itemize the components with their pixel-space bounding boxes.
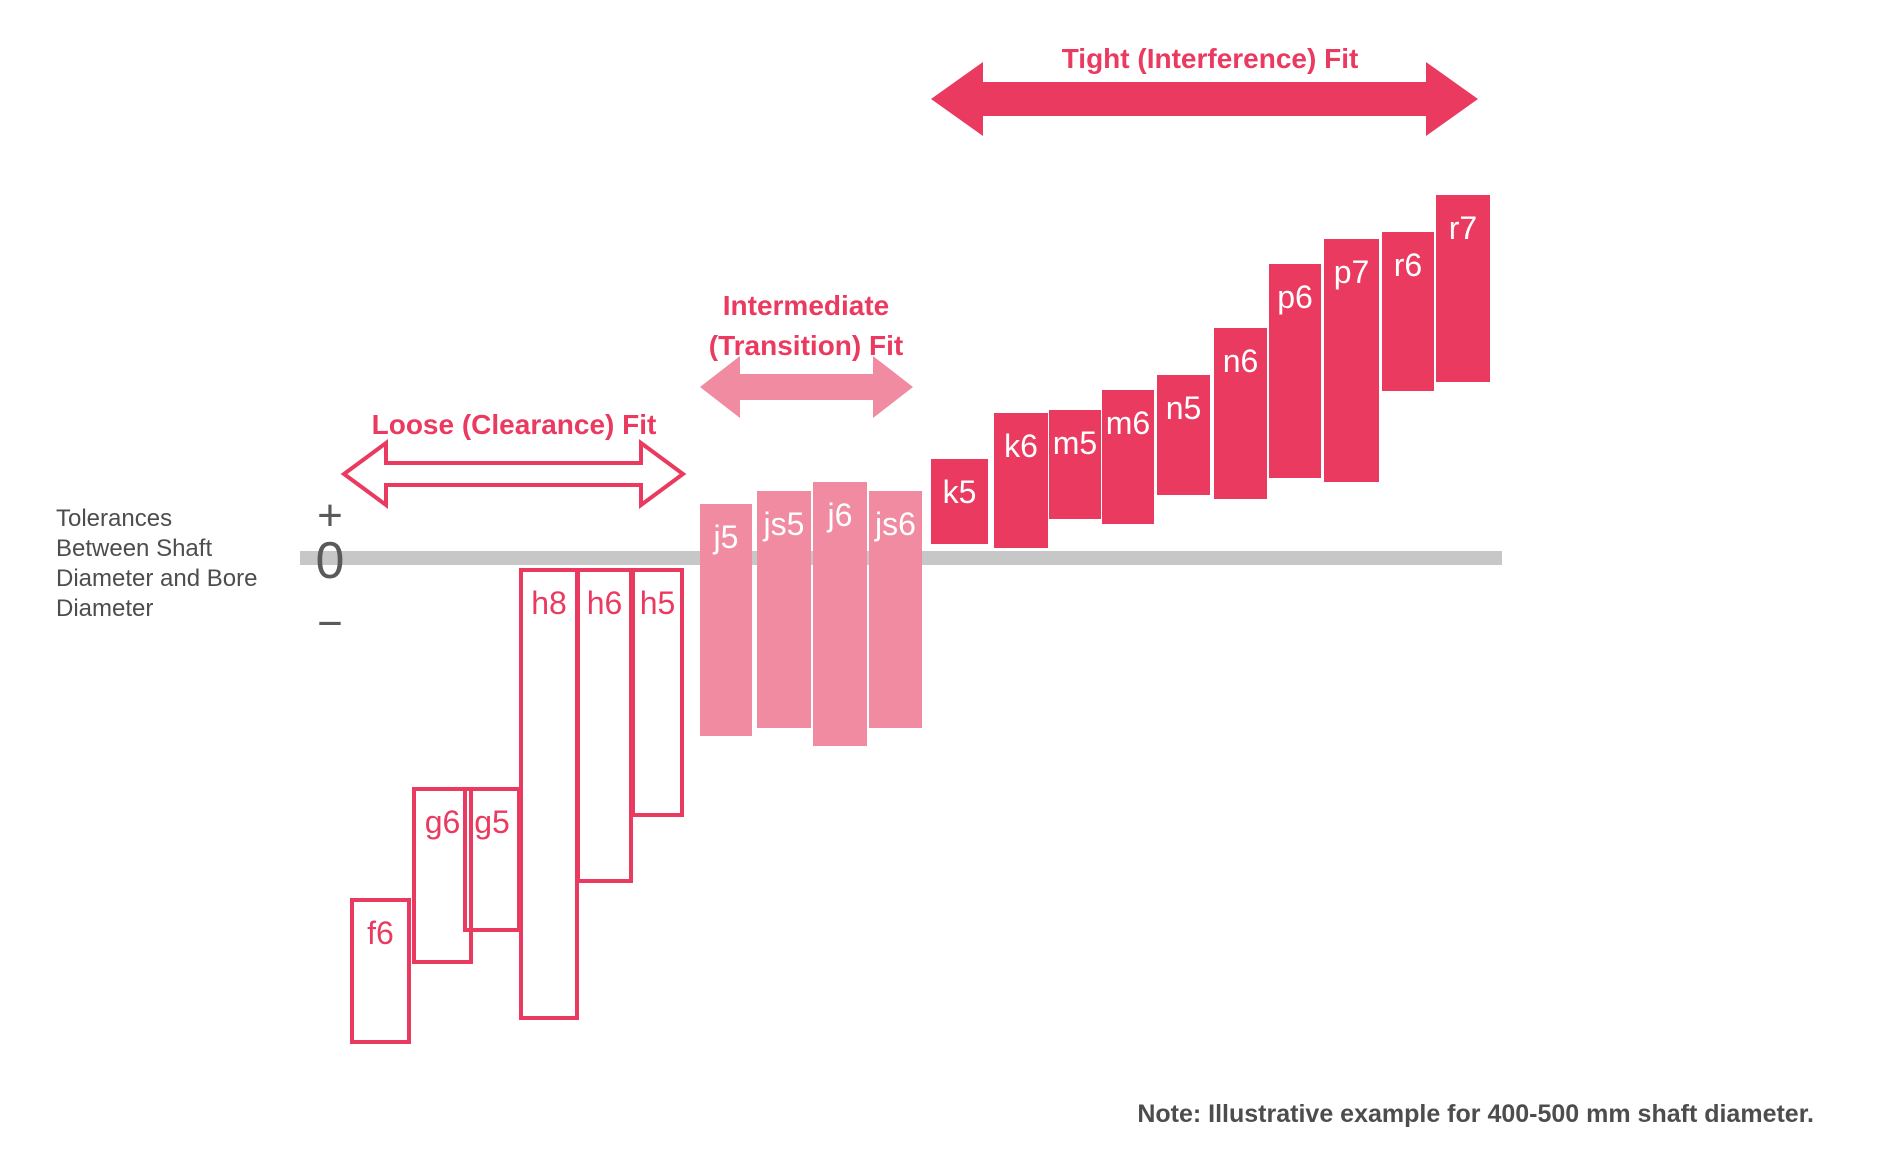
bar-j5: j5 (700, 504, 752, 736)
annotation-label-intermediate: (Transition) Fit (709, 330, 903, 361)
axis-labels-group: + 0 − (316, 491, 345, 648)
bar-n6: n6 (1214, 328, 1267, 499)
bar-label-j5: j5 (713, 519, 739, 555)
annotation-tight: Tight (Interference) Fit (931, 43, 1478, 136)
bar-js6: js6 (869, 491, 922, 728)
bar-label-p7: p7 (1334, 254, 1370, 290)
axis-minus-label: − (317, 599, 343, 648)
chart-note: Note: Illustrative example for 400-500 m… (1137, 1100, 1814, 1128)
bar-label-h5: h5 (640, 585, 676, 621)
bar-h5: h5 (633, 570, 682, 815)
bar-r7: r7 (1436, 195, 1490, 382)
bar-rect-h8 (521, 570, 577, 1018)
bar-label-j6: j6 (827, 497, 853, 533)
bar-label-n6: n6 (1223, 343, 1259, 379)
bar-f6: f6 (352, 900, 409, 1042)
y-axis-caption: TolerancesBetween ShaftDiameter and Bore… (56, 505, 257, 622)
bar-p7: p7 (1324, 239, 1379, 482)
y-axis-caption-line: Between Shaft (56, 535, 212, 562)
bar-r6: r6 (1382, 232, 1434, 391)
arrow-loose (344, 443, 683, 505)
bar-k5: k5 (931, 459, 988, 544)
bar-label-m6: m6 (1106, 405, 1150, 441)
bar-label-r7: r7 (1449, 210, 1477, 246)
bar-h8: h8 (521, 570, 577, 1018)
bar-label-js6: js6 (874, 506, 916, 542)
annotation-loose: Loose (Clearance) Fit (344, 409, 683, 505)
axis-zero-label: 0 (316, 532, 345, 590)
bars-group: f6g6g5h8h6h5j5js5j6js6k5k6m5m6n5n6p6p7r6… (352, 195, 1490, 1042)
annotation-intermediate: Intermediate(Transition) Fit (700, 290, 913, 418)
bar-label-n5: n5 (1166, 390, 1202, 426)
bar-label-g5: g5 (474, 804, 510, 840)
arrow-intermediate (700, 356, 913, 418)
tolerance-fit-chart: + 0 − TolerancesBetween ShaftDiameter an… (0, 0, 1880, 1160)
bar-label-m5: m5 (1053, 425, 1097, 461)
chart-canvas: + 0 − TolerancesBetween ShaftDiameter an… (0, 0, 1880, 1160)
bar-g5: g5 (465, 789, 519, 930)
annotation-label-tight: Tight (Interference) Fit (1062, 43, 1359, 74)
bar-label-r6: r6 (1394, 247, 1422, 283)
bar-label-k6: k6 (1004, 428, 1038, 464)
bar-g6: g6 (414, 789, 471, 962)
bar-label-p6: p6 (1277, 279, 1313, 315)
bar-label-g6: g6 (425, 804, 461, 840)
bar-k6: k6 (994, 413, 1048, 548)
bar-js5: js5 (757, 491, 811, 728)
annotation-label-intermediate: Intermediate (723, 290, 890, 321)
y-axis-caption-line: Diameter and Bore (56, 565, 257, 592)
bar-h6: h6 (578, 570, 631, 881)
bar-label-h6: h6 (587, 585, 623, 621)
bar-label-f6: f6 (367, 915, 394, 951)
bar-p6: p6 (1269, 264, 1321, 478)
bar-label-js5: js5 (763, 506, 805, 542)
annotation-label-loose: Loose (Clearance) Fit (372, 409, 657, 440)
bar-j6: j6 (813, 482, 867, 746)
y-axis-caption-line: Diameter (56, 595, 153, 622)
bar-m6: m6 (1102, 390, 1154, 524)
bar-label-h8: h8 (531, 585, 567, 621)
bar-m5: m5 (1049, 410, 1101, 519)
y-axis-caption-line: Tolerances (56, 505, 172, 532)
bar-label-k5: k5 (943, 474, 977, 510)
bar-n5: n5 (1157, 375, 1210, 495)
